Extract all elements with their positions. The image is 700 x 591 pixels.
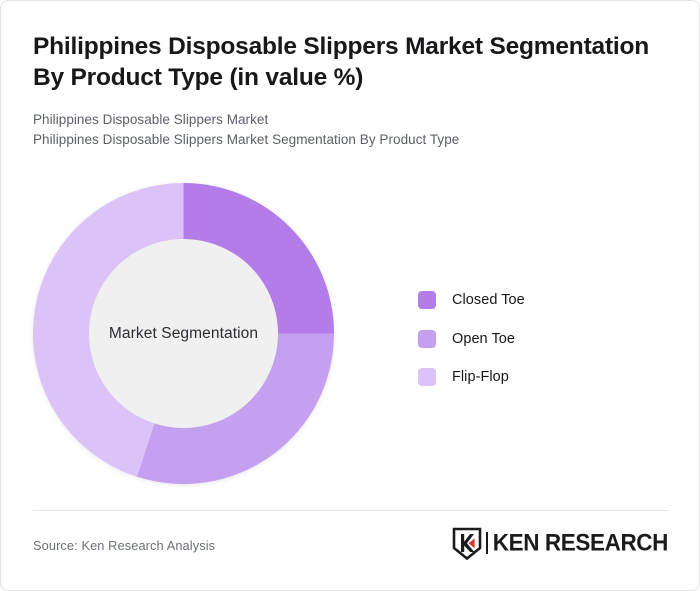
legend-label: Flip-Flop (452, 369, 509, 385)
legend-item-open-toe[interactable]: Open Toe (418, 320, 525, 359)
legend-swatch-icon (418, 291, 436, 309)
legend-item-closed-toe[interactable]: Closed Toe (418, 281, 525, 320)
source-note: Source: Ken Research Analysis (33, 538, 215, 553)
ken-research-logo: KEN RESEARCH (452, 526, 668, 560)
chart-header: Philippines Disposable Slippers Market S… (33, 31, 663, 151)
footer-divider (33, 510, 669, 511)
subtitle-line-1: Philippines Disposable Slippers Market (33, 110, 663, 131)
ken-research-logo-icon (452, 527, 482, 560)
page-title: Philippines Disposable Slippers Market S… (33, 31, 663, 94)
chart-card: Philippines Disposable Slippers Market S… (0, 0, 700, 591)
subtitle-line-2: Philippines Disposable Slippers Market S… (33, 130, 663, 151)
logo-wordmark: KEN RESEARCH (493, 531, 668, 555)
donut-hole (89, 239, 278, 428)
breadcrumb: Philippines Disposable Slippers Market P… (33, 110, 663, 151)
legend-label: Open Toe (452, 331, 515, 347)
donut-chart-svg (33, 183, 334, 484)
legend-item-flip-flop[interactable]: Flip-Flop (418, 358, 525, 397)
legend-swatch-icon (418, 368, 436, 386)
donut-chart: Market Segmentation (33, 183, 334, 484)
legend-swatch-icon (418, 330, 436, 348)
chart-legend: Closed Toe Open Toe Flip-Flop (418, 281, 525, 397)
logo-separator (486, 532, 488, 554)
legend-label: Closed Toe (452, 292, 525, 308)
chart-area: Market Segmentation Closed Toe Open Toe … (1, 167, 700, 503)
